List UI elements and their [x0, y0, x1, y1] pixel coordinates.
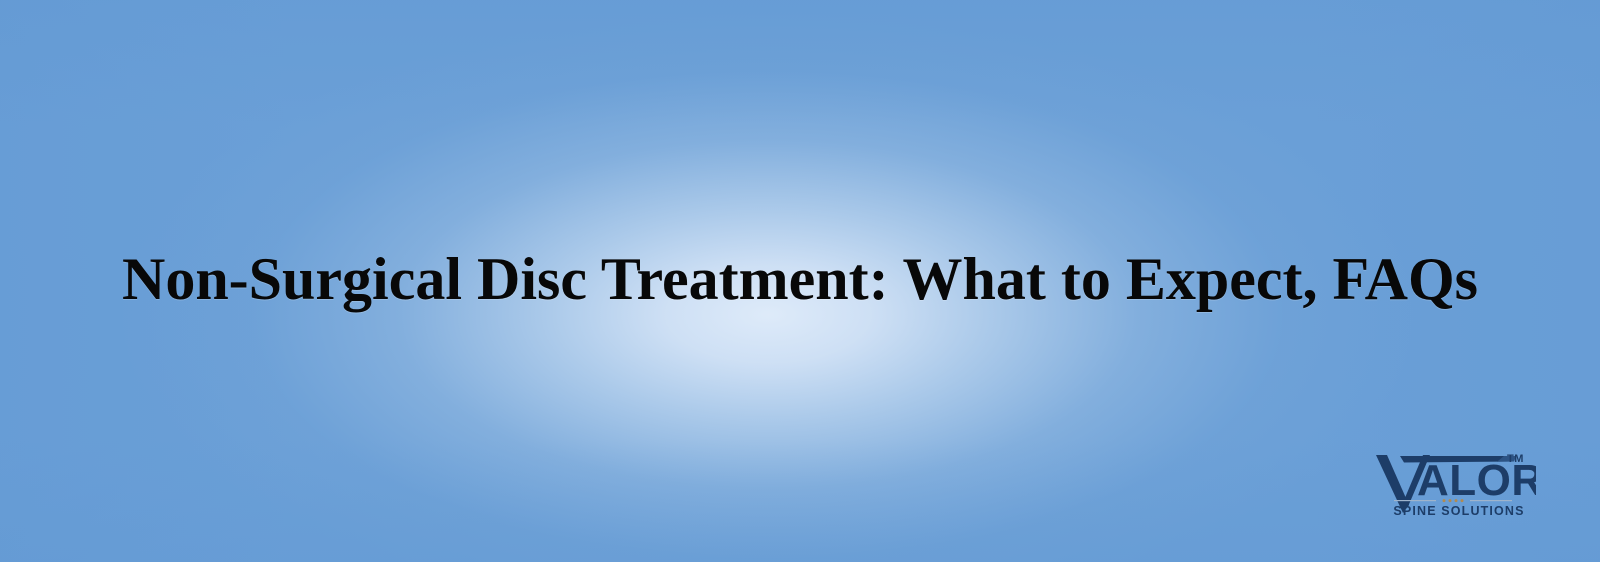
logo-divider-icon	[1394, 497, 1512, 504]
logo-tagline: SPINE SOLUTIONS	[1364, 504, 1536, 518]
page-title: Non-Surgical Disc Treatment: What to Exp…	[0, 246, 1600, 312]
article-hero-banner: Non-Surgical Disc Treatment: What to Exp…	[0, 0, 1600, 562]
trademark-symbol: TM	[1507, 453, 1524, 465]
valor-spine-solutions-logo[interactable]: ALOR TM SPINE SOLUTIONS	[1364, 443, 1536, 521]
